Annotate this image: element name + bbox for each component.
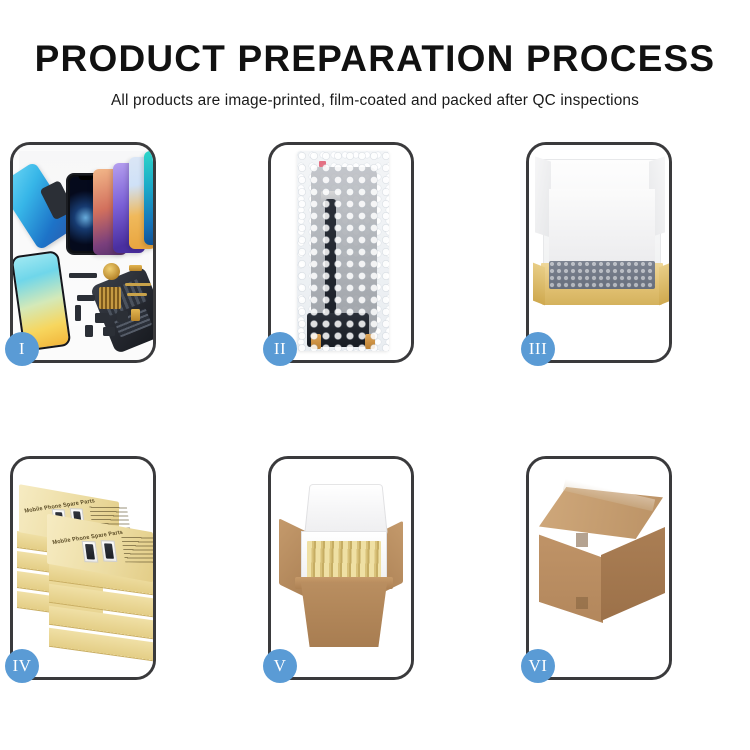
- sealed-carton-front: [539, 527, 603, 623]
- part-flex-cable-icon: [125, 283, 151, 286]
- part-gold-connector-icon: [129, 265, 142, 271]
- step-badge-1: I: [5, 332, 39, 366]
- step-badge-4: IV: [5, 649, 39, 683]
- process-step-panel-2: II: [268, 142, 414, 363]
- process-step-panel-6: VI: [526, 456, 672, 680]
- part-camera-icon: [117, 311, 128, 322]
- carton-body: [301, 583, 387, 647]
- step-badge-3: III: [521, 332, 555, 366]
- part-chip-grid-icon: [99, 287, 121, 309]
- process-step-panel-4: Mobile Phone Spare Parts Mobile Phone Sp…: [10, 456, 156, 680]
- part-strip-icon: [69, 273, 97, 278]
- process-step-panel-3: III: [526, 142, 672, 363]
- phone-notch: [78, 176, 93, 180]
- step-1-photo: [13, 145, 153, 360]
- bubble-wrap-bag: [297, 151, 389, 351]
- kraft-box-stack: Mobile Phone Spare Parts Mobile Phone Sp…: [17, 477, 153, 659]
- screen-flex-cable: [325, 199, 336, 315]
- step-badge-2: II: [263, 332, 297, 366]
- gold-tab-right: [365, 334, 375, 349]
- part-flex-cable-icon-2: [127, 293, 147, 296]
- step-2-photo: [271, 145, 411, 360]
- lid-window-front-1: [82, 541, 99, 563]
- step-badge-6: VI: [521, 649, 555, 683]
- step-4-photo: Mobile Phone Spare Parts Mobile Phone Sp…: [13, 459, 153, 677]
- process-step-panel-1: I: [10, 142, 156, 363]
- step-3-photo: [529, 145, 669, 360]
- part-tray-icon: [85, 325, 93, 337]
- part-pin-icon: [75, 305, 81, 321]
- process-step-panel-5: V: [268, 456, 414, 680]
- product-preparation-page: PRODUCT PREPARATION PROCESS All products…: [0, 0, 750, 750]
- step-badge-5: V: [263, 649, 297, 683]
- spare-parts-cluster: [67, 257, 153, 349]
- part-speaker-icon: [103, 263, 120, 280]
- page-title: PRODUCT PREPARATION PROCESS: [0, 0, 750, 81]
- page-subtitle: All products are image-printed, film-coa…: [0, 81, 750, 110]
- white-foam-sheet: [549, 189, 655, 263]
- carton-seam-lower: [576, 597, 588, 609]
- foam-box-lid: [304, 484, 388, 536]
- lid-window-front-2: [101, 540, 118, 562]
- gold-tab-left: [311, 334, 321, 349]
- carton-seam-upper: [576, 533, 588, 547]
- stacked-yellow-boxes-inside: [307, 541, 381, 581]
- part-bracket-icon: [77, 295, 95, 301]
- step-5-photo: [271, 459, 411, 677]
- gray-bubble-wrapped-items: [549, 261, 655, 289]
- part-module-icon: [103, 327, 115, 336]
- red-sticker-icon: [319, 161, 326, 167]
- part-button-icon: [95, 313, 109, 323]
- page-header: PRODUCT PREPARATION PROCESS All products…: [0, 0, 750, 110]
- lid-spec-lines-front: [121, 536, 153, 563]
- part-gold-clip-icon: [131, 309, 140, 321]
- step-6-photo: [529, 459, 669, 677]
- fanned-phone-icon-d: [144, 151, 153, 245]
- process-steps-grid: I II: [10, 142, 740, 680]
